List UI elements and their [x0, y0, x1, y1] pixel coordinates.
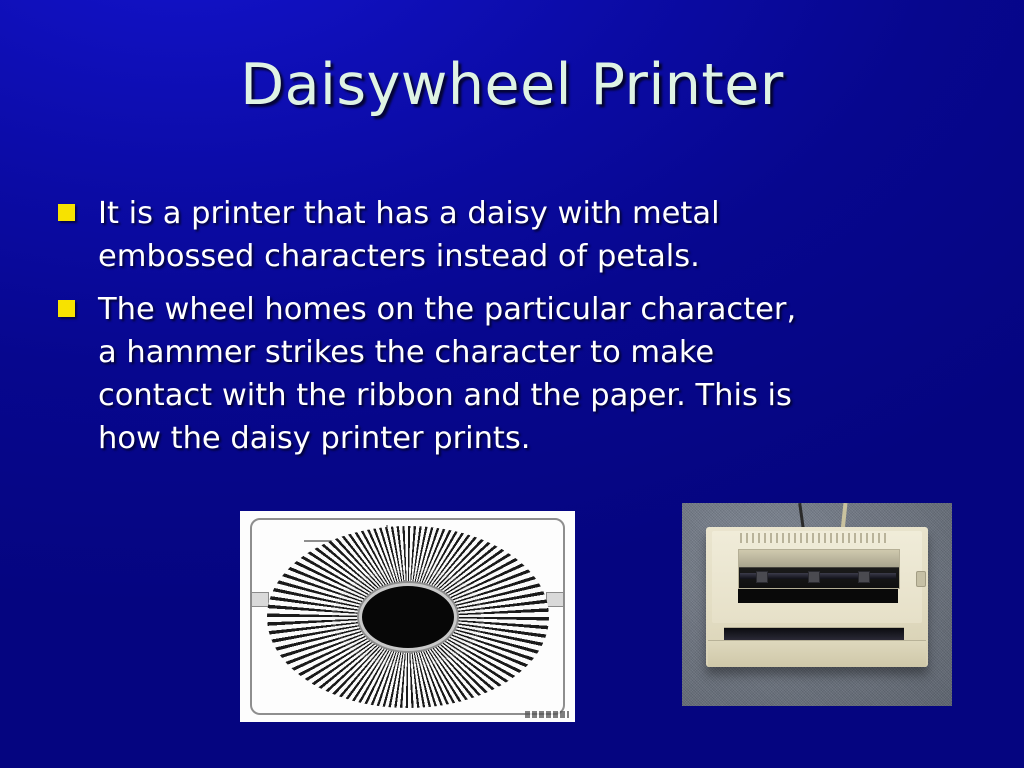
wheel-hub [359, 583, 457, 651]
printer-carriage-block [858, 571, 870, 583]
daisy-wheel-diagram-image [240, 511, 575, 722]
bullet-line: embossed characters instead of petals. [98, 235, 948, 278]
page-title: Daisywheel Printer [0, 56, 1024, 116]
wheel-illustration [240, 511, 575, 722]
bullet-text: It is a printer that has a daisy with me… [98, 192, 948, 278]
printer-carriage-block [756, 571, 768, 583]
bullet-text: The wheel homes on the particular charac… [98, 288, 948, 460]
bullet-line: a hammer strikes the character to make [98, 331, 948, 374]
list-item: The wheel homes on the particular charac… [58, 288, 948, 460]
printer-top-panel [712, 531, 922, 623]
image-watermark [525, 711, 569, 718]
printer-platen-shadow [738, 589, 898, 603]
slide-body: It is a printer that has a daisy with me… [58, 192, 948, 470]
bullet-line: The wheel homes on the particular charac… [98, 288, 948, 331]
bullet-line: It is a printer that has a daisy with me… [98, 192, 948, 235]
printer-vent-grille [740, 533, 890, 543]
printer-chassis [706, 527, 928, 667]
list-item: It is a printer that has a daisy with me… [58, 192, 948, 278]
printer-carriage-bay [738, 549, 900, 589]
bullet-line: how the daisy printer prints. [98, 417, 948, 460]
bullet-square-icon [58, 300, 75, 317]
printer-side-knob [916, 571, 926, 587]
printer-front-panel [708, 640, 926, 667]
bullet-line: contact with the ribbon and the paper. T… [98, 374, 948, 417]
daisywheel-printer-photo-image [682, 503, 952, 706]
bullet-square-icon [58, 204, 75, 221]
presentation-slide: Daisywheel Printer It is a printer that … [0, 0, 1024, 768]
printer-carriage-block [808, 571, 820, 583]
